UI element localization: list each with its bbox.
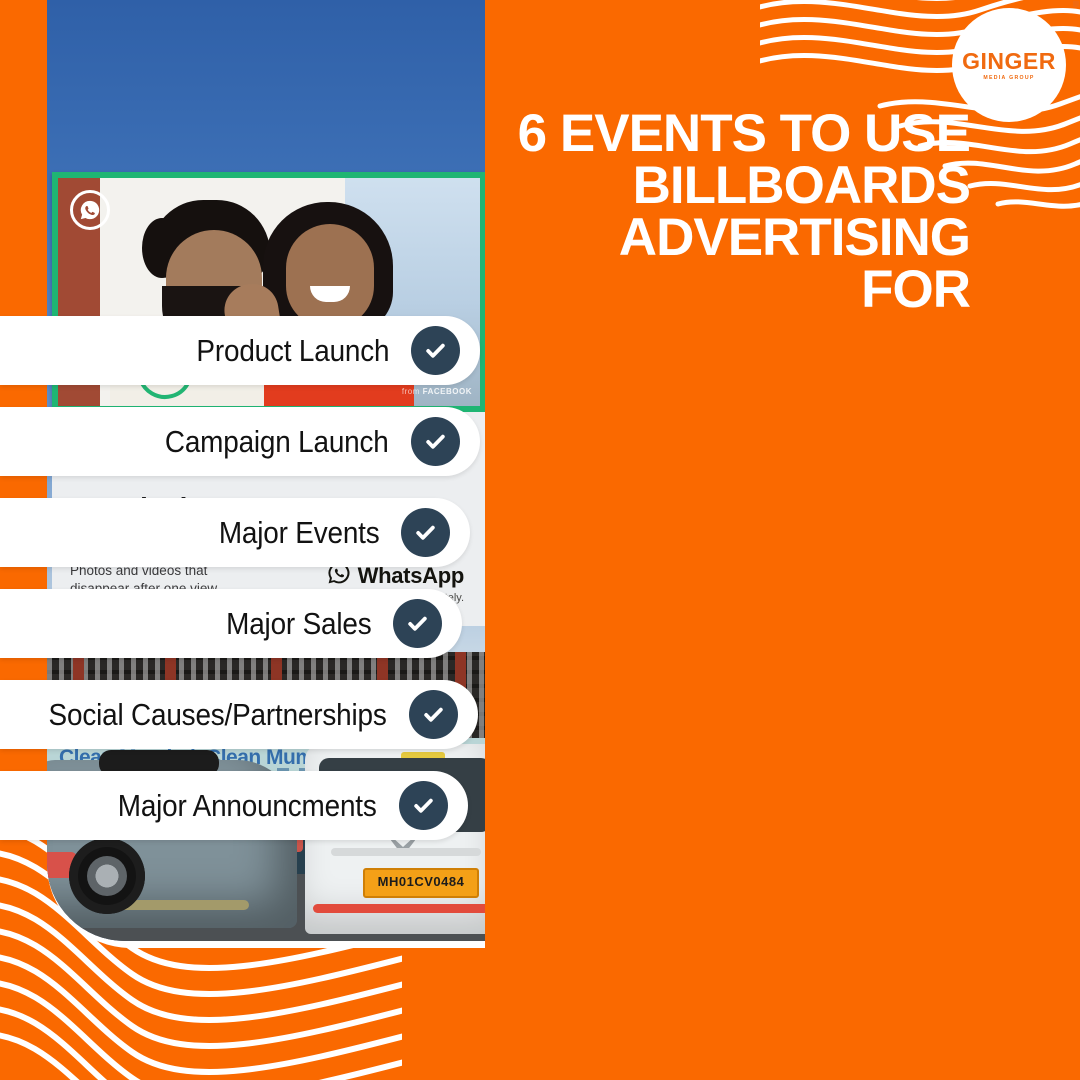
check-circle-icon <box>399 781 448 830</box>
title-line-2: BILLBOARDS <box>500 160 970 212</box>
title-line-4: FOR <box>500 264 970 316</box>
event-list-item-label: Major Sales <box>226 606 371 642</box>
check-circle-icon <box>411 326 460 375</box>
event-list-item-label: Campaign Launch <box>165 424 389 460</box>
logo-wordmark: GINGER <box>962 50 1056 73</box>
page-title: 6 EVENTS TO USE BILLBOARDS ADVERTISING F… <box>500 108 970 316</box>
event-list-item[interactable]: Major Sales <box>0 589 462 658</box>
title-line-1: 6 EVENTS TO USE <box>500 108 970 160</box>
check-circle-icon <box>409 690 458 739</box>
logo-subtitle: MEDIA GROUP <box>983 75 1034 81</box>
event-list-item[interactable]: Product Launch <box>0 316 480 385</box>
event-list-item-label: Major Events <box>218 515 379 551</box>
event-list-item-label: Major Announcments <box>118 788 377 824</box>
event-list-item[interactable]: Major Events <box>0 498 470 567</box>
check-circle-icon <box>393 599 442 648</box>
check-circle-icon <box>411 417 460 466</box>
event-list-item[interactable]: Major Announcments <box>0 771 468 840</box>
title-line-3: ADVERTISING <box>500 212 970 264</box>
whatsapp-icon <box>70 190 110 230</box>
event-list-item-label: Product Launch <box>196 333 389 369</box>
event-list-item[interactable]: Social Causes/Partnerships <box>0 680 478 749</box>
license-plate: MH01CV0484 <box>363 868 479 898</box>
poster-canvas: 1 fr <box>0 0 1080 1080</box>
check-circle-icon <box>401 508 450 557</box>
event-list: Product LaunchCampaign LaunchMajor Event… <box>0 316 1080 862</box>
event-list-item-label: Social Causes/Partnerships <box>49 697 387 733</box>
logo-mark-icon <box>1068 0 1080 10</box>
event-list-item[interactable]: Campaign Launch <box>0 407 480 476</box>
